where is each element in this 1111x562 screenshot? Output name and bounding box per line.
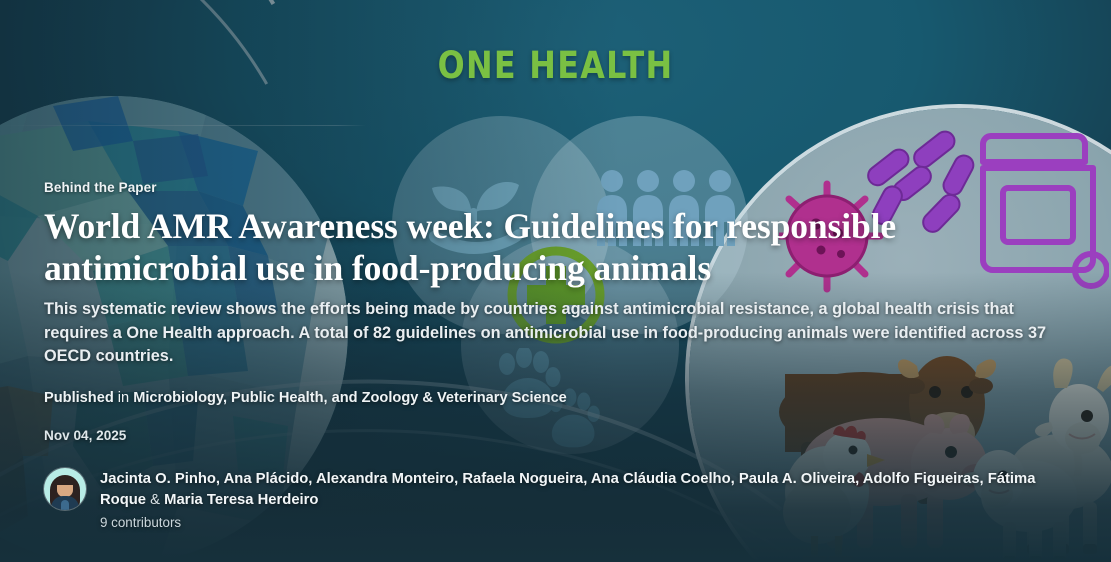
author-separator: &: [146, 492, 164, 508]
hero-content: Behind the Paper World AMR Awareness wee…: [44, 180, 1081, 530]
publication-date: Nov 04, 2025: [44, 428, 1081, 443]
author-byline: Jacinta O. Pinho, Ana Plácido, Alexandra…: [44, 468, 1081, 530]
avatar[interactable]: [44, 468, 86, 510]
contributors-count[interactable]: 9 contributors: [100, 515, 1081, 530]
published-prefix: Published: [44, 390, 114, 406]
published-in-line: Published in Microbiology, Public Health…: [44, 390, 1081, 406]
author-text-block: Jacinta O. Pinho, Ana Plácido, Alexandra…: [100, 468, 1081, 530]
article-summary: This systematic review shows the efforts…: [44, 298, 1069, 368]
article-hero-banner: ONE HEALTH Behind the Paper World AMR Aw…: [0, 0, 1111, 562]
avatar-hair-front: [55, 476, 75, 485]
one-health-artwork-heading: ONE HEALTH: [78, 44, 1033, 87]
published-journals[interactable]: Microbiology, Public Health, and Zoology…: [133, 390, 567, 406]
avatar-collar: [61, 500, 69, 510]
article-category-label[interactable]: Behind the Paper: [44, 180, 1081, 195]
horizontal-divider: [0, 125, 366, 126]
article-title[interactable]: World AMR Awareness week: Guidelines for…: [44, 206, 944, 289]
author-name-last[interactable]: Maria Teresa Herdeiro: [164, 492, 318, 508]
author-list: Jacinta O. Pinho, Ana Plácido, Alexandra…: [100, 469, 1081, 511]
published-in-word: in: [118, 390, 129, 406]
